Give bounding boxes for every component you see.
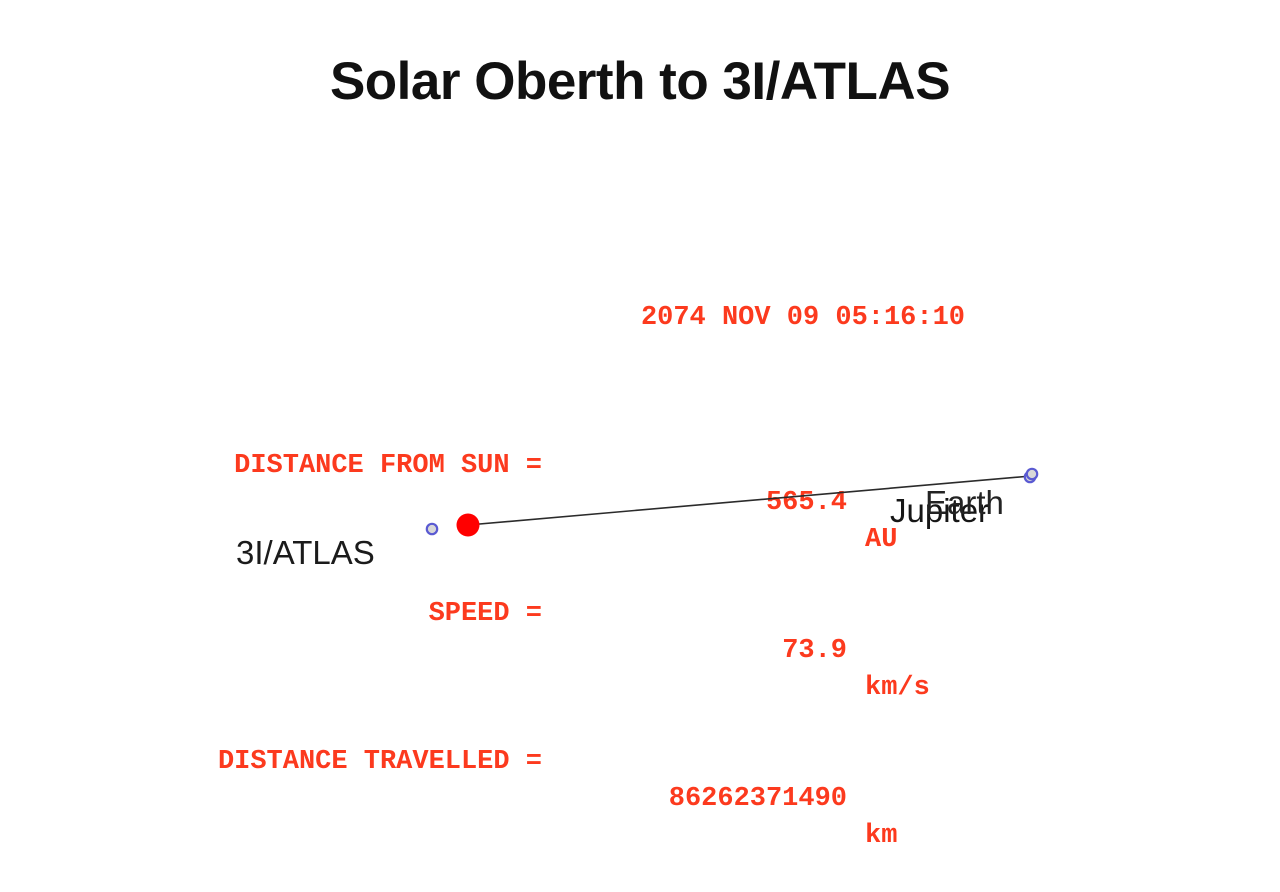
label-3i-atlas: 3I/ATLAS <box>236 536 375 569</box>
telemetry-value-distance-travelled: 86262371490 <box>542 781 847 818</box>
telemetry-row-speed: SPEED = 73.9 km/s <box>60 559 980 596</box>
telemetry-label-distance-from-sun: DISTANCE FROM SUN = <box>60 448 542 485</box>
telemetry-row-distance-travelled: DISTANCE TRAVELLED = 86262371490 km <box>60 707 980 744</box>
label-earth: Earth <box>925 486 1004 519</box>
telemetry-label-distance-travelled: DISTANCE TRAVELLED = <box>60 744 542 781</box>
telemetry-value-distance-from-sun: 565.4 <box>542 485 847 522</box>
simulation-canvas: Solar Oberth to 3I/ATLAS 2074 NOV 09 05:… <box>0 0 1280 720</box>
telemetry-value-speed: 73.9 <box>542 633 847 670</box>
telemetry-row-distance-from-sun: DISTANCE FROM SUN = 565.4 AU <box>60 411 980 448</box>
telemetry-datetime: 2074 NOV 09 05:16:10 <box>60 300 965 337</box>
telemetry-unit-speed: km/s <box>865 670 980 707</box>
marker-earth <box>1027 469 1037 479</box>
telemetry-panel: 2074 NOV 09 05:16:10 DISTANCE FROM SUN =… <box>60 152 980 855</box>
page-title: Solar Oberth to 3I/ATLAS <box>0 52 1280 112</box>
telemetry-label-speed: SPEED = <box>60 596 542 633</box>
telemetry-unit-distance-travelled: km <box>865 818 980 855</box>
telemetry-row-datetime: 2074 NOV 09 05:16:10 <box>60 263 980 300</box>
marker-jupiter <box>1025 472 1035 482</box>
